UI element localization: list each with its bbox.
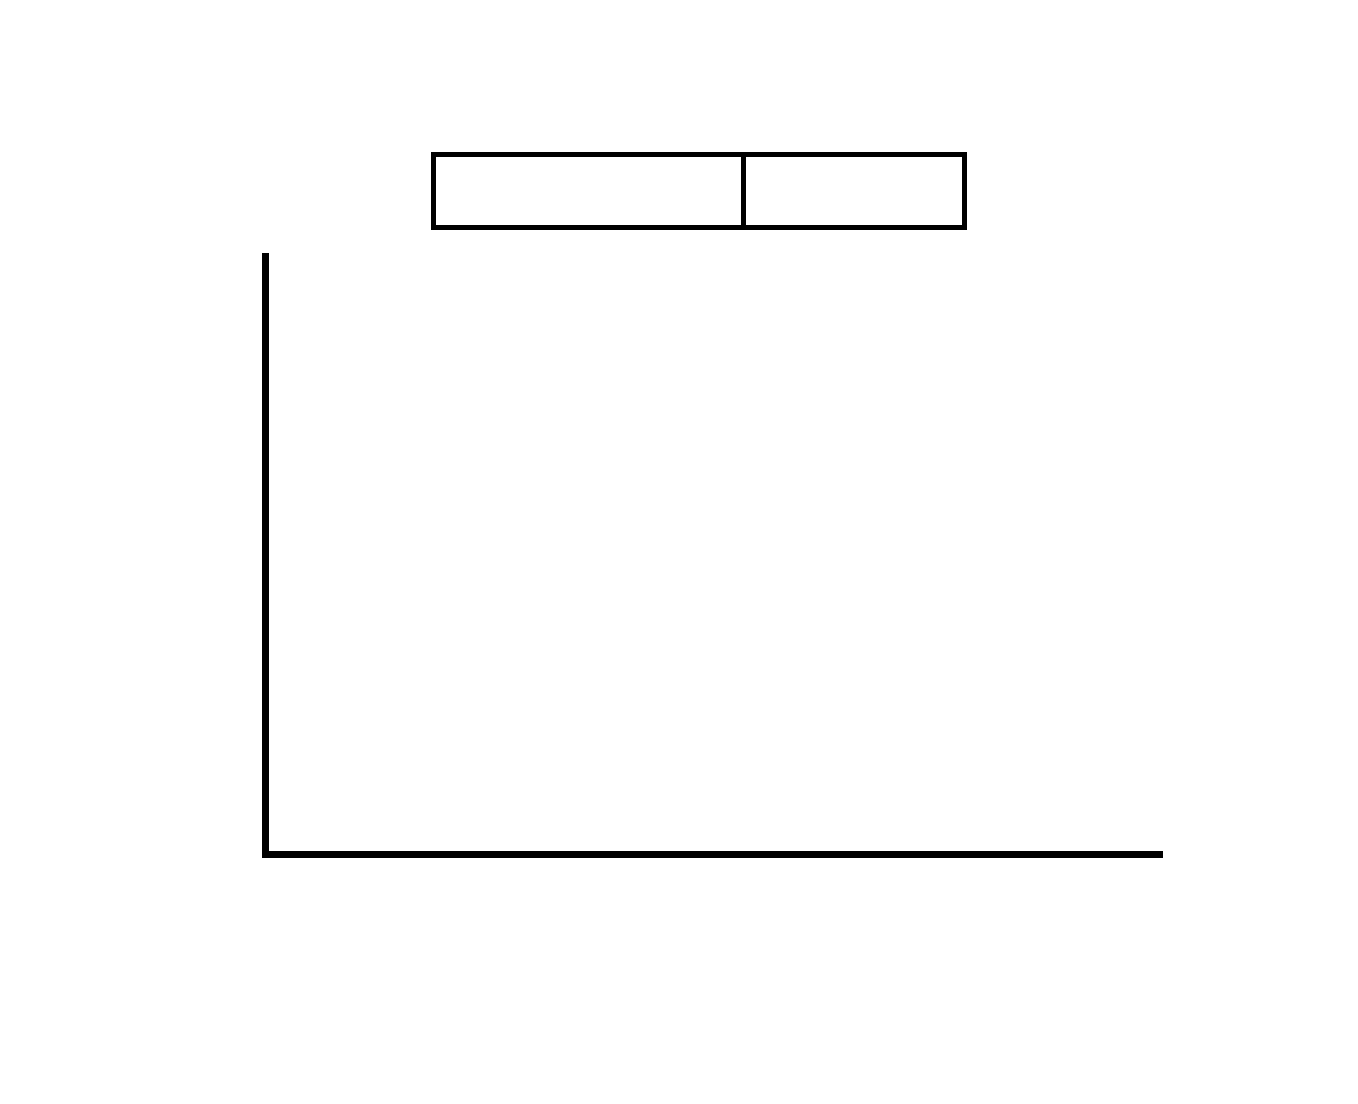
chart-figure [0, 0, 1358, 1104]
x-axis-line [262, 851, 1163, 858]
y-axis-line [262, 253, 269, 858]
ec50-value-cell [746, 157, 962, 225]
ec50-label-cell [436, 157, 746, 225]
ec50-table [431, 152, 967, 230]
